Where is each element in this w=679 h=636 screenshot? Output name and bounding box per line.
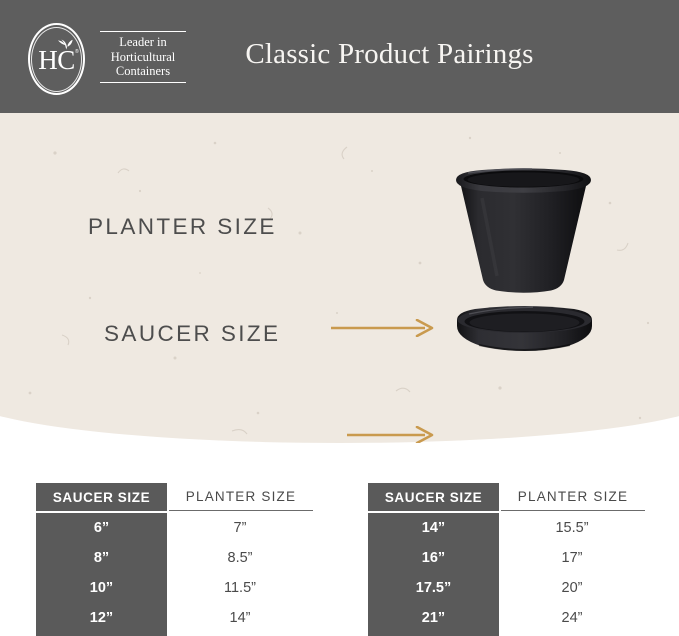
planter-illustration — [452, 168, 595, 295]
cell-saucer-size: 17.5” — [368, 573, 499, 603]
cell-saucer-size: 16” — [368, 543, 499, 573]
table-row: 17.5” 20” — [368, 573, 645, 603]
table-body: 6” 7” 8” 8.5” 10” 11.5” 12” 14” — [36, 513, 313, 636]
tagline-rule-bottom — [100, 82, 186, 83]
cell-saucer-size: 21” — [368, 603, 499, 633]
cell-planter-size: 11.5” — [167, 573, 313, 603]
callout-label-planter-size: PLANTER SIZE — [88, 214, 277, 240]
page-header: HC ® Leader in Horticultural Containers … — [0, 0, 679, 113]
cell-saucer-size: 8” — [36, 543, 167, 573]
column-header-saucer-size: SAUCER SIZE — [368, 483, 499, 511]
page-title: Classic Product Pairings — [0, 37, 679, 71]
arrow-right-icon-planter — [331, 319, 435, 337]
column-header-saucer-size: SAUCER SIZE — [36, 483, 167, 511]
table-header-row: SAUCER SIZE PLANTER SIZE — [368, 483, 645, 511]
table-row: 21” 24” — [368, 603, 645, 633]
table-row: 10” 11.5” — [36, 573, 313, 603]
callout-label-saucer-size: SAUCER SIZE — [104, 321, 280, 347]
column-header-planter-size: PLANTER SIZE — [169, 483, 313, 511]
cell-planter-size: 20” — [499, 573, 645, 603]
table-row: 6” 7” — [36, 513, 313, 543]
table-row: 14” 15.5” — [368, 513, 645, 543]
cell-saucer-size: 12” — [36, 603, 167, 633]
size-chart-table-right: SAUCER SIZE PLANTER SIZE 14” 15.5” 16” 1… — [368, 483, 645, 636]
cell-saucer-size: 10” — [36, 573, 167, 603]
table-header-row: SAUCER SIZE PLANTER SIZE — [36, 483, 313, 511]
cell-planter-size: 24” — [499, 603, 645, 633]
table-body: 14” 15.5” 16” 17” 17.5” 20” 21” 24” — [368, 513, 645, 636]
table-row: 12” 14” — [36, 603, 313, 633]
column-header-planter-size: PLANTER SIZE — [501, 483, 645, 511]
table-row: 16” 17” — [368, 543, 645, 573]
hero-illustration-panel: PLANTER SIZE SAUCER SIZE — [0, 113, 679, 443]
cell-planter-size: 14” — [167, 603, 313, 633]
size-chart-table-left: SAUCER SIZE PLANTER SIZE 6” 7” 8” 8.5” 1… — [36, 483, 313, 636]
cell-planter-size: 17” — [499, 543, 645, 573]
arrow-right-icon-saucer — [347, 426, 435, 443]
cell-planter-size: 7” — [167, 513, 313, 543]
cell-saucer-size: 6” — [36, 513, 167, 543]
cell-saucer-size: 14” — [368, 513, 499, 543]
cell-planter-size: 8.5” — [167, 543, 313, 573]
cell-planter-size: 15.5” — [499, 513, 645, 543]
table-row: 8” 8.5” — [36, 543, 313, 573]
product-pairings-infographic: HC ® Leader in Horticultural Containers … — [0, 0, 679, 636]
saucer-illustration — [455, 304, 594, 359]
